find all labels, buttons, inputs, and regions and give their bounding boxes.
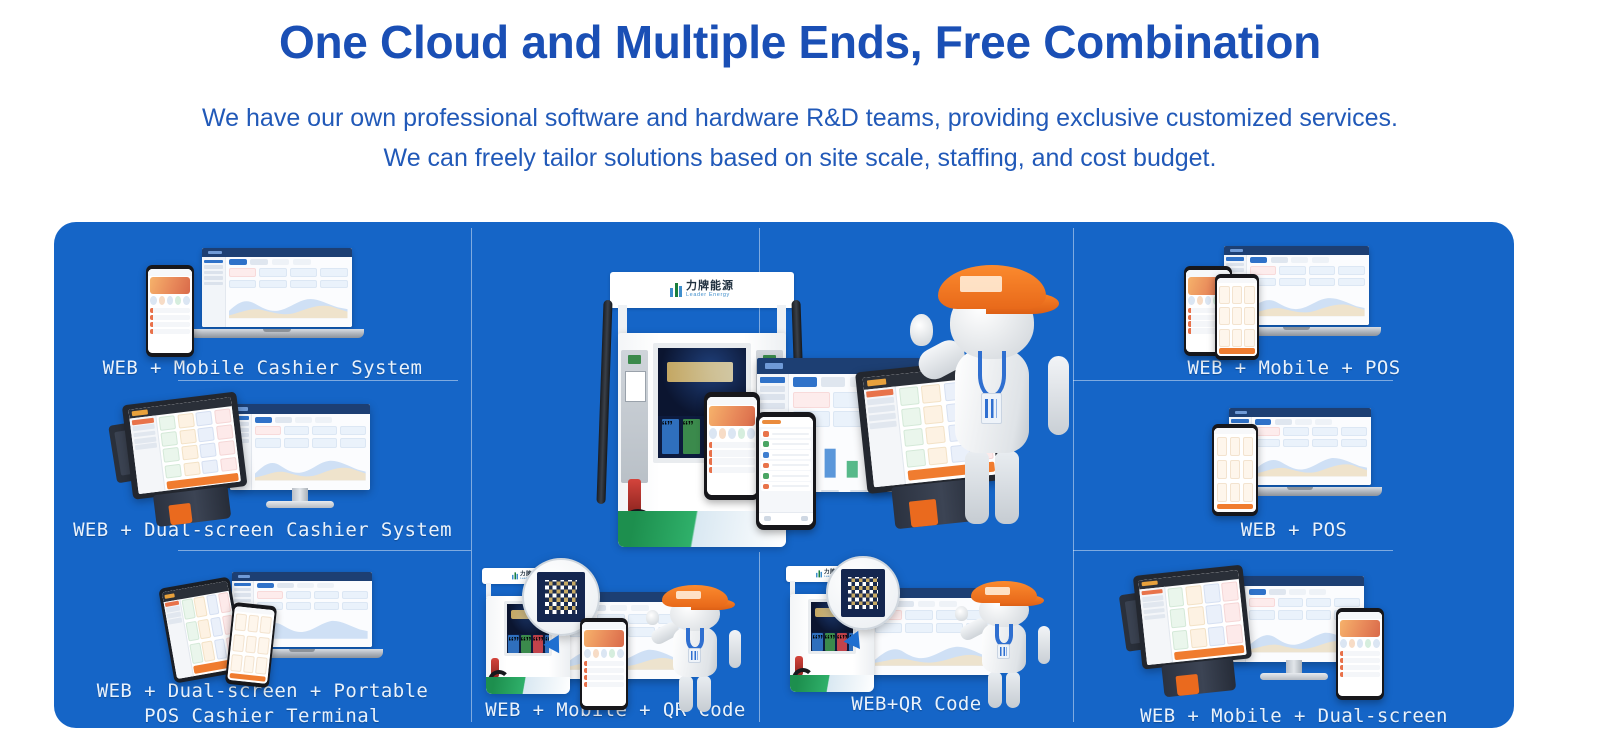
artwork-web-mobile-cashier xyxy=(54,230,471,356)
subtitle-line-1: We have our own professional software an… xyxy=(0,98,1600,139)
cell-web-mobile-pos[interactable]: WEB + Mobile + POS xyxy=(1074,230,1514,380)
divider-horizontal-left-1 xyxy=(178,380,458,381)
brand-name-en: Leader Energy xyxy=(686,293,734,299)
mobile-mall-app xyxy=(1338,612,1382,696)
phone-device xyxy=(580,618,628,710)
laptop-lid xyxy=(202,248,352,327)
hero-mascot xyxy=(912,262,1072,524)
mascot-id-badge xyxy=(997,644,1009,659)
mobile-mall-app xyxy=(148,269,192,353)
qr-display xyxy=(537,572,584,622)
mobile-mall-app xyxy=(582,622,626,706)
artwork-web-qr: 力牌能源 Leader Energy xyxy=(760,560,1073,692)
artwork-web-mobile-dualscreen xyxy=(1074,560,1514,704)
dispenser-base-stripe xyxy=(486,677,570,694)
handheld-screen xyxy=(1217,278,1257,356)
mobile-pos-app xyxy=(227,606,275,684)
phone-device xyxy=(1336,608,1384,700)
handheld-body xyxy=(225,602,277,688)
cell-hero-dispenser: 力牌能源 Leader Energy xyxy=(472,230,1072,560)
pos-register-ui xyxy=(1139,570,1247,665)
phone-screen xyxy=(582,622,626,706)
mascot-arm-right xyxy=(1048,356,1069,435)
cell-web-dualscreen-cashier[interactable]: WEB + Dual-screen Cashier System xyxy=(54,390,471,542)
pos-handheld-device xyxy=(1212,424,1258,516)
page-subtitle: We have our own professional software an… xyxy=(0,98,1600,179)
pos-register-ui xyxy=(128,397,241,494)
hero-phone-left xyxy=(704,392,760,500)
mascot-cap-logo xyxy=(985,587,1010,595)
mascot-leg-left xyxy=(679,676,693,712)
dashboard-tabs xyxy=(229,259,348,265)
cell-web-dualscreen-portable-pos[interactable]: WEB + Dual-screen + Portable POS Cashier… xyxy=(54,560,471,728)
pos-handheld-device xyxy=(1215,274,1259,360)
phone-device xyxy=(146,265,194,357)
phone-screen xyxy=(707,397,758,495)
artwork-web-dualscreen-portable-pos xyxy=(54,560,471,679)
laptop-base xyxy=(190,329,364,338)
mascot-cap-logo xyxy=(676,591,701,599)
divider-horizontal-right-1 xyxy=(1073,380,1393,381)
pos-main-display xyxy=(1133,565,1253,670)
mascot-cap-logo xyxy=(960,276,1002,292)
logo-bars-icon xyxy=(512,573,518,580)
divider-horizontal-right-2 xyxy=(1073,550,1393,551)
phone-notch xyxy=(163,266,176,268)
fuel-hose-left xyxy=(596,299,612,503)
pos-terminal-device xyxy=(1128,564,1260,700)
dispenser-fuel-buttons[interactable] xyxy=(508,635,547,651)
phone-screen xyxy=(1338,612,1382,696)
phone-body xyxy=(756,412,816,530)
mascot-hand xyxy=(910,314,932,345)
mascot-arm-right xyxy=(729,630,741,668)
brand-logo: 力牌能源 Leader Energy xyxy=(670,281,734,299)
mascot-id-badge xyxy=(688,648,700,663)
dashboard-topbar xyxy=(202,248,352,257)
mascot-leg-left xyxy=(988,672,1002,708)
mobile-order-app xyxy=(759,417,814,524)
caption-web-mobile-dualscreen: WEB + Mobile + Dual-screen xyxy=(1140,704,1448,728)
page-title: One Cloud and Multiple Ends, Free Combin… xyxy=(0,0,1600,68)
handheld-screen xyxy=(1214,428,1256,512)
pos-stand xyxy=(1161,658,1236,698)
fuel-nozzle xyxy=(628,479,641,513)
mascot-leg-right xyxy=(697,676,711,712)
mascot-leg-left xyxy=(965,451,989,524)
brand-name-cn: 力牌能源 xyxy=(686,281,734,292)
monitor-foot xyxy=(1260,673,1327,680)
handheld-screen xyxy=(227,606,275,684)
pos-main-display xyxy=(122,391,248,499)
cell-web-mobile-cashier[interactable]: WEB + Mobile Cashier System xyxy=(54,230,471,380)
monitor-neck xyxy=(292,488,309,502)
cell-web-pos[interactable]: WEB + POS xyxy=(1074,390,1514,542)
phone-screen xyxy=(759,417,814,524)
phone-body xyxy=(146,265,194,357)
pos-terminal-device xyxy=(117,391,256,530)
mobile-mall-app xyxy=(707,397,758,495)
dispenser-panel-left xyxy=(621,350,648,483)
monitor-foot xyxy=(266,501,333,508)
artwork-web-pos xyxy=(1074,390,1514,518)
mascot-id-badge xyxy=(981,393,1002,424)
phone-body xyxy=(1336,608,1384,700)
pos-screen xyxy=(1139,570,1247,665)
laptop-device xyxy=(202,248,352,338)
solutions-panel: WEB + Mobile Cashier System xyxy=(54,222,1514,728)
dispenser-canopy: 力牌能源 Leader Energy xyxy=(610,272,794,308)
qr-display xyxy=(841,569,886,617)
laptop-screen xyxy=(202,248,352,327)
qr-code-icon xyxy=(545,580,577,614)
handheld-body xyxy=(1215,274,1259,360)
dashboard-ui xyxy=(202,248,352,327)
dashboard-kpi-cards xyxy=(229,268,348,289)
caption-web-mobile-cashier: WEB + Mobile Cashier System xyxy=(103,356,423,380)
dashboard-axis xyxy=(229,321,348,324)
mascot xyxy=(956,580,1052,708)
phone-screen xyxy=(148,269,192,353)
dashboard-area-chart xyxy=(229,293,348,320)
mascot xyxy=(647,584,743,712)
mascot-hand xyxy=(646,610,659,625)
mobile-pos-app xyxy=(1214,428,1256,512)
qr-magnifier xyxy=(826,556,900,630)
caption-web-dualscreen-cashier: WEB + Dual-screen Cashier System xyxy=(73,518,452,542)
divider-horizontal-left-2 xyxy=(178,550,471,551)
monitor-neck xyxy=(1286,660,1303,674)
mascot-hand xyxy=(955,606,968,621)
cell-web-mobile-qr[interactable]: 力牌能源 Leader Energy xyxy=(472,560,759,728)
artwork-hero-dispenser: 力牌能源 Leader Energy xyxy=(472,230,1072,560)
mascot-leg-right xyxy=(995,451,1019,524)
phone-body xyxy=(580,618,628,710)
artwork-web-mobile-qr: 力牌能源 Leader Energy xyxy=(472,560,759,698)
mobile-pos-app xyxy=(1217,278,1257,356)
caption-web-pos: WEB + POS xyxy=(1241,518,1348,542)
dispenser-base-stripe xyxy=(790,675,874,692)
dashboard-sidebar xyxy=(202,257,226,327)
cell-web-mobile-dualscreen[interactable]: WEB + Mobile + Dual-screen xyxy=(1074,560,1514,728)
logo-bars-icon xyxy=(670,283,682,297)
artwork-web-dualscreen-cashier xyxy=(54,390,471,518)
logo-bars-icon xyxy=(816,571,822,578)
artwork-web-mobile-pos xyxy=(1074,230,1514,356)
qr-code-icon xyxy=(848,577,878,609)
mascot-leg-right xyxy=(1006,672,1020,708)
handheld-body xyxy=(1212,424,1258,516)
mascot-arm-right xyxy=(1038,626,1050,664)
subtitle-line-2: We can freely tailor solutions based on … xyxy=(0,138,1600,179)
phone-body xyxy=(704,392,760,500)
hero-phone-right xyxy=(756,412,816,530)
pos-screen xyxy=(128,397,241,494)
cell-web-qr[interactable]: 力牌能源 Leader Energy xyxy=(760,560,1073,728)
handheld-terminal-device xyxy=(225,602,277,688)
